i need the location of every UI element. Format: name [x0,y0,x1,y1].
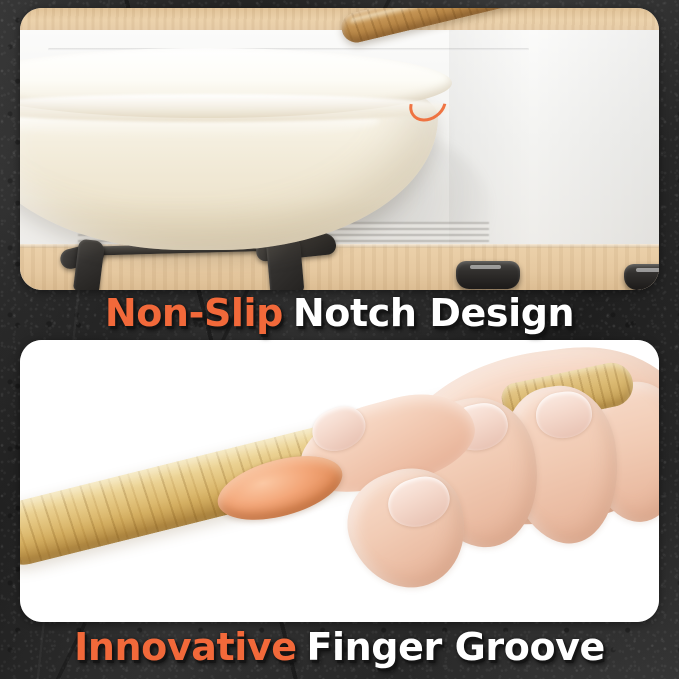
caption-highlight-text: Innovative [74,625,297,669]
caption-innovative-finger-groove: InnovativeFinger Groove [0,628,679,666]
stovetop-scene [20,8,659,290]
caption-rest-text: Notch Design [293,291,574,335]
wood-backsplash-strip [20,8,659,30]
stove-control-knob [624,264,659,290]
caption-rest-text: Finger Groove [306,625,604,669]
stove-control-knob [456,261,520,289]
caption-highlight-text: Non-Slip [105,291,283,335]
non-slip-notch-panel [20,8,659,290]
caption-non-slip-notch-design: Non-SlipNotch Design [0,294,679,332]
hand-grip-scene [20,340,659,622]
product-feature-collage: Non-SlipNotch Design InnovativeFinger Gr… [0,0,679,679]
finger-groove-panel [20,340,659,622]
